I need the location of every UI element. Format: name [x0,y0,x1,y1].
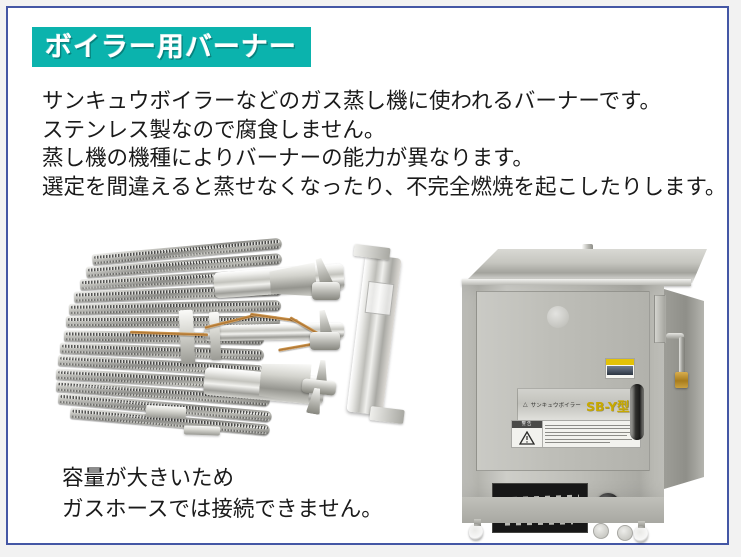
model-nameplate: △ サンキュウボイラー SB-Y型 [517,388,635,422]
slide-page: ボイラー用バーナー サンキュウボイラーなどのガス蒸し機に使われるバーナーです。 … [0,0,741,557]
cabinet-plinth [462,497,664,523]
cabinet-hinge-plate [654,295,666,343]
caption-line: ガスホースでは接続できません。 [62,494,482,525]
warning-sticker-text [543,421,640,447]
caster-wheel [469,524,483,540]
caption-line: 容量が大きいため [62,463,482,494]
warning-text-line [545,425,634,426]
manifold-end-cap [369,406,404,424]
cabinet-door: △ サンキュウボイラー SB-Y型 警告 [476,291,650,471]
warning-text-line [545,428,631,429]
description-block: サンキュウボイラーなどのガス蒸し機に使われるバーナーです。 ステンレス製なので腐… [42,88,722,202]
cabinet-side-panel [664,289,704,489]
burner-orifice-fitting [312,282,340,300]
cabinet-top-panel [464,249,707,283]
model-number: SB-Y型 [586,396,629,415]
door-vent-plug [547,306,569,328]
description-line: サンキュウボイラーなどのガス蒸し機に使われるバーナーです。 [42,88,722,117]
manifold-label [365,281,395,316]
caution-decal [605,358,635,379]
warning-text-line [545,435,627,436]
page-title: ボイラー用バーナー [45,34,297,61]
gas-manifold-bar [347,254,402,415]
brass-gas-valve [675,372,688,388]
cabinet-front-body: △ サンキュウボイラー SB-Y型 警告 [462,285,664,497]
brand-name: サンキュウボイラー [531,401,581,409]
burner-bracket [146,405,187,419]
warning-text-line [545,442,610,443]
burner-fin [69,300,281,315]
burner-bracket [179,310,196,365]
description-line: 選定を間違えると蒸せなくなったり、不完全燃焼を起こしたりします。 [42,174,722,203]
brand-mark-icon: △ [523,402,528,408]
warning-text-line [545,439,632,440]
gas-pipe-vertical [679,337,685,375]
content-frame: ボイラー用バーナー サンキュウボイラーなどのガス蒸し機に使われるバーナーです。 … [6,6,729,545]
description-line: 蒸し機の機種によりバーナーの能力が異なります。 [42,145,722,174]
burner-bracket [184,425,220,435]
boiler-cabinet-photo: △ サンキュウボイラー SB-Y型 警告 [460,241,715,533]
decal-pictogram [607,366,633,375]
page-title-banner: ボイラー用バーナー [32,27,311,67]
cabinet-door-handle[interactable] [630,384,644,440]
panel-plug [593,523,609,539]
caster-wheel [634,526,648,542]
description-line: ステンレス製なので腐食しません。 [42,117,722,146]
burner-photo [64,240,434,436]
caption-block: 容量が大きいため ガスホースでは接続できません。 [62,463,482,525]
content-area: ボイラー用バーナー サンキュウボイラーなどのガス蒸し機に使われるバーナーです。 … [8,8,727,543]
decal-yellow-band [606,359,634,365]
warning-sticker-left: 警告 [512,421,543,447]
panel-plug [617,525,633,541]
burner-orifice-fitting [310,332,340,350]
warning-text-line [545,432,635,433]
warning-sticker: 警告 [511,420,641,448]
warning-heading: 警告 [512,421,542,428]
warning-triangle-icon [512,428,542,447]
manifold-end-cap [353,244,390,260]
